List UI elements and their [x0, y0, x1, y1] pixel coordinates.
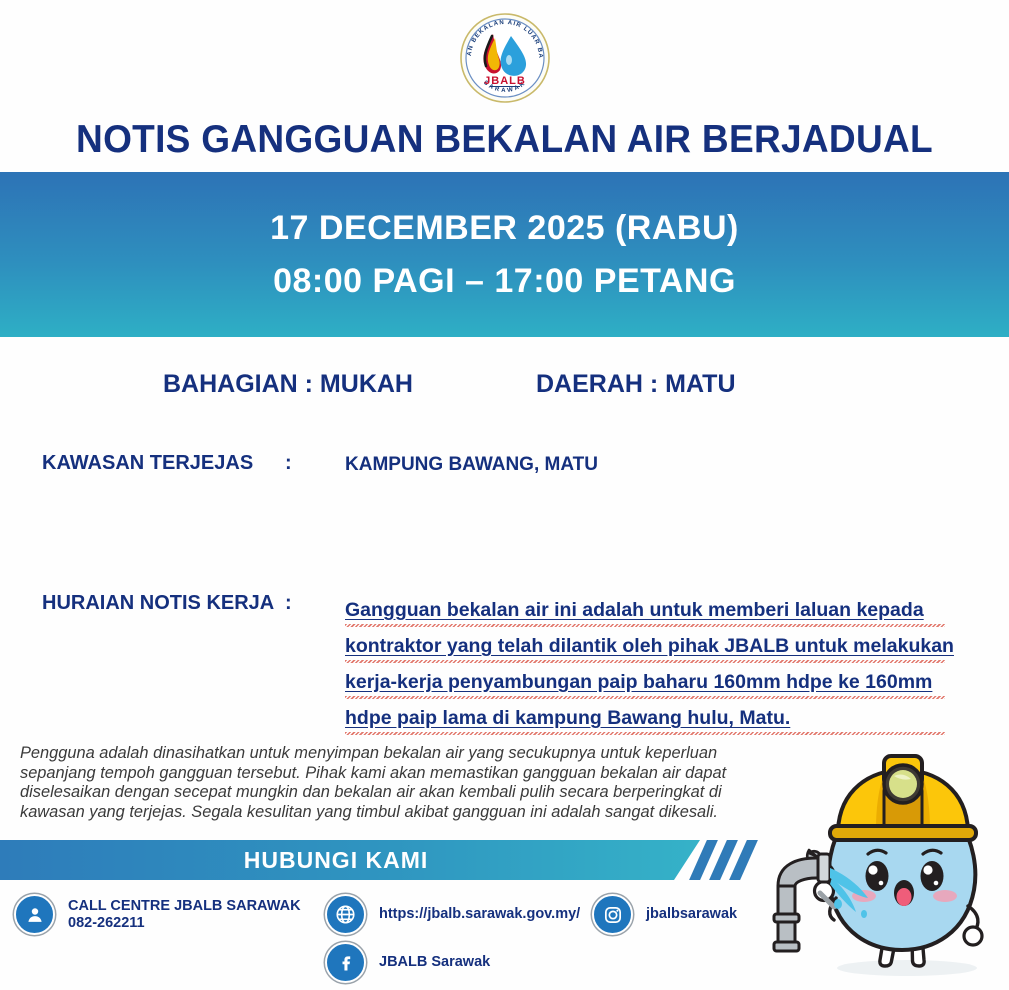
- work-description-body: Gangguan bekalan air ini adalah untuk me…: [345, 592, 945, 736]
- instagram-label: jbalbsarawak: [646, 906, 737, 923]
- date-banner: 17 DECEMBER 2025 (RABU) 08:00 PAGI – 17:…: [0, 172, 1009, 337]
- affected-area-value: KAMPUNG BAWANG, MATU: [345, 454, 598, 476]
- district-label: DAERAH : MATU: [536, 370, 736, 399]
- call-centre-phone: 082-262211: [68, 915, 301, 932]
- work-description-line: kontraktor yang telah dilantik oleh piha…: [345, 628, 945, 664]
- instagram-icon: [592, 894, 633, 935]
- jbalb-logo-graphic: JABATAN BEKALAN AIR LUAR BANDAR SARAWAK …: [459, 12, 551, 104]
- work-description-line: kerja-kerja penyambungan paip baharu 160…: [345, 664, 945, 700]
- globe-icon: [325, 894, 366, 935]
- work-description-line: Gangguan bekalan air ini adalah untuk me…: [345, 592, 945, 628]
- contact-bar-title: HUBUNGI KAMI: [244, 847, 429, 874]
- work-description-colon: :: [285, 592, 292, 615]
- jbalb-logo: JABATAN BEKALAN AIR LUAR BANDAR SARAWAK …: [459, 12, 551, 104]
- contact-instagram[interactable]: jbalbsarawak: [592, 894, 737, 935]
- logo-container: JABATAN BEKALAN AIR LUAR BANDAR SARAWAK …: [0, 12, 1009, 112]
- water-droplet-mascot: [772, 728, 1009, 985]
- website-label: https://jbalb.sarawak.gov.my/: [379, 906, 580, 923]
- region-row: BAHAGIAN : MUKAH DAERAH : MATU: [0, 370, 1009, 406]
- person-icon: [14, 894, 55, 935]
- contact-website[interactable]: https://jbalb.sarawak.gov.my/: [325, 894, 580, 935]
- contacts-container: CALL CENTRE JBALB SARAWAK 082-262211 htt…: [0, 892, 790, 985]
- decorative-slashes: [690, 840, 770, 880]
- page-title: NOTIS GANGGUAN BEKALAN AIR BERJADUAL: [25, 118, 984, 162]
- call-centre-label: CALL CENTRE JBALB SARAWAK: [68, 898, 301, 914]
- call-centre-text: CALL CENTRE JBALB SARAWAK 082-262211: [68, 898, 301, 932]
- contact-facebook[interactable]: JBALB Sarawak: [325, 942, 490, 983]
- division-label: BAHAGIAN : MUKAH: [163, 370, 413, 399]
- facebook-label: JBALB Sarawak: [379, 954, 490, 971]
- contact-call-centre[interactable]: CALL CENTRE JBALB SARAWAK 082-262211: [14, 894, 301, 935]
- contact-bar: HUBUNGI KAMI: [0, 840, 700, 880]
- mascot-graphic: [772, 728, 1009, 985]
- work-description-label: HURAIAN NOTIS KERJA: [42, 592, 274, 615]
- notice-date: 17 DECEMBER 2025 (RABU): [270, 202, 739, 255]
- notice-time-range: 08:00 PAGI – 17:00 PETANG: [273, 255, 736, 308]
- facebook-icon: [325, 942, 366, 983]
- affected-area-colon: :: [285, 452, 292, 475]
- affected-area-label: KAWASAN TERJEJAS: [42, 452, 253, 475]
- svg-text:JBALB: JBALB: [484, 75, 526, 87]
- advisory-text: Pengguna adalah dinasihatkan untuk menyi…: [20, 744, 740, 822]
